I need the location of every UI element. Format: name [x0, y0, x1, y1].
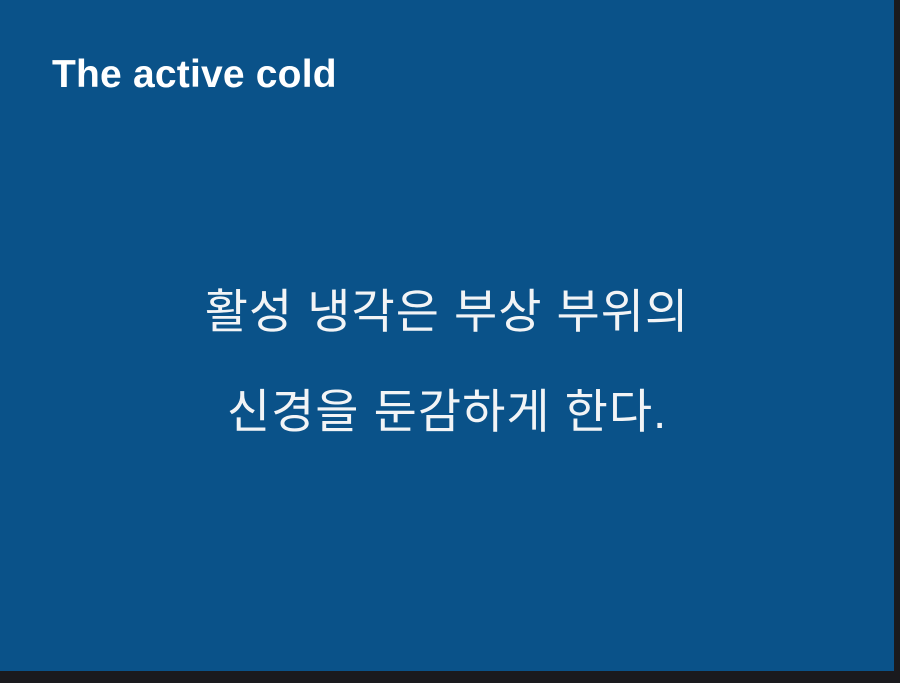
presentation-slide: The active cold 활성 냉각은 부상 부위의 신경을 둔감하게 한… [0, 0, 900, 683]
frame-edge-bottom [0, 671, 900, 683]
slide-title: The active cold [52, 55, 337, 96]
slide-canvas: The active cold 활성 냉각은 부상 부위의 신경을 둔감하게 한… [0, 0, 894, 671]
body-line-2: 신경을 둔감하게 한다. [0, 362, 894, 462]
frame-edge-right [894, 0, 900, 683]
slide-body-text: 활성 냉각은 부상 부위의 신경을 둔감하게 한다. [0, 262, 894, 462]
body-line-1: 활성 냉각은 부상 부위의 [0, 262, 894, 362]
